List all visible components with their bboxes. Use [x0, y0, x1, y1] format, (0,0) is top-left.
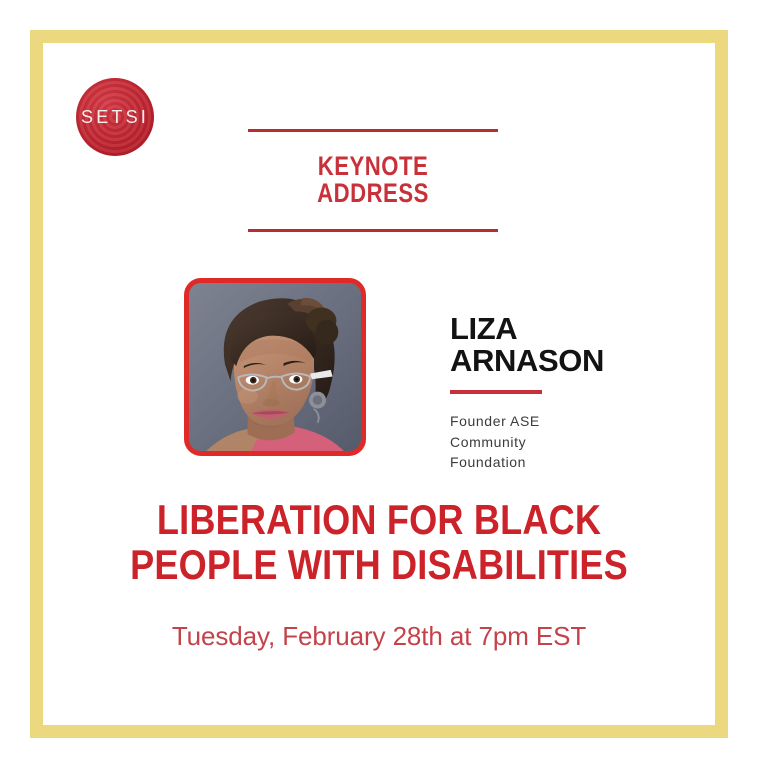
speaker-info: LIZA ARNASON Founder ASE Community Found…: [450, 313, 690, 473]
setsi-logo: SETSI: [76, 78, 154, 156]
headline-line2: PEOPLE WITH DISABILITIES: [90, 543, 668, 588]
speaker-name-line2: ARNASON: [450, 343, 604, 378]
headline-line1: LIBERATION FOR BLACK: [90, 498, 668, 543]
speaker-title-line1: Founder ASE: [450, 413, 540, 429]
event-flyer: SETSI KEYNOTE ADDRESS: [0, 0, 758, 768]
speaker-block: LIZA ARNASON Founder ASE Community Found…: [43, 241, 715, 471]
speaker-title: Founder ASE Community Foundation: [450, 411, 690, 473]
flyer-content: SETSI KEYNOTE ADDRESS: [43, 43, 715, 725]
speaker-photo: [184, 278, 366, 456]
speaker-name-underline: [450, 390, 542, 394]
speaker-title-line2: Community: [450, 434, 526, 450]
speaker-name: LIZA ARNASON: [450, 313, 690, 377]
keynote-label: KEYNOTE ADDRESS: [271, 132, 476, 229]
setsi-logo-text: SETSI: [81, 107, 149, 128]
speaker-portrait-graphic: [189, 283, 361, 451]
event-date: Tuesday, February 28th at 7pm EST: [43, 621, 715, 652]
event-headline: LIBERATION FOR BLACK PEOPLE WITH DISABIL…: [90, 498, 668, 587]
speaker-name-line1: LIZA: [450, 311, 517, 346]
keynote-header: KEYNOTE ADDRESS: [248, 129, 498, 232]
keynote-rule-bottom: [248, 229, 498, 232]
speaker-title-line3: Foundation: [450, 454, 526, 470]
